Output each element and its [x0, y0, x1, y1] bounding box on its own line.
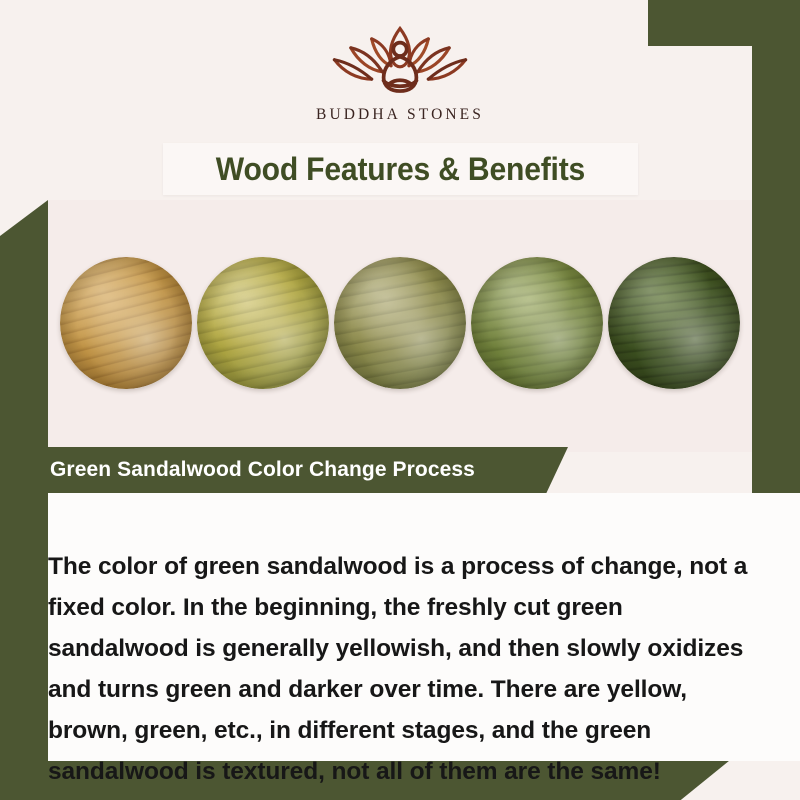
bead-shading [60, 257, 192, 389]
bead-row [48, 250, 752, 396]
bead-stage-5 [608, 257, 740, 389]
description-text: The color of green sandalwood is a proce… [48, 546, 748, 792]
bead-shading [334, 257, 466, 389]
frame-band-left [0, 200, 48, 800]
brand-header: BUDDHA STONES [48, 0, 752, 150]
bead-stage-1 [60, 257, 192, 389]
bead-stage-2 [197, 257, 329, 389]
poster-root: BUDDHA STONES Wood Features & Benefits [0, 0, 800, 800]
lotus-meditation-icon [315, 18, 485, 100]
page-title: Wood Features & Benefits [216, 151, 585, 188]
bead-shading [471, 257, 603, 389]
brand-wordmark: BUDDHA STONES [316, 106, 484, 124]
page-title-plaque: Wood Features & Benefits [163, 143, 638, 195]
bead-shading [608, 257, 740, 389]
description-panel: The color of green sandalwood is a proce… [48, 493, 800, 761]
bead-stage-4 [471, 257, 603, 389]
section-banner: Green Sandalwood Color Change Process [28, 447, 568, 493]
section-banner-label: Green Sandalwood Color Change Process [50, 458, 475, 482]
bead-shading [197, 257, 329, 389]
bead-stage-3 [334, 257, 466, 389]
bead-showcase [48, 200, 752, 452]
